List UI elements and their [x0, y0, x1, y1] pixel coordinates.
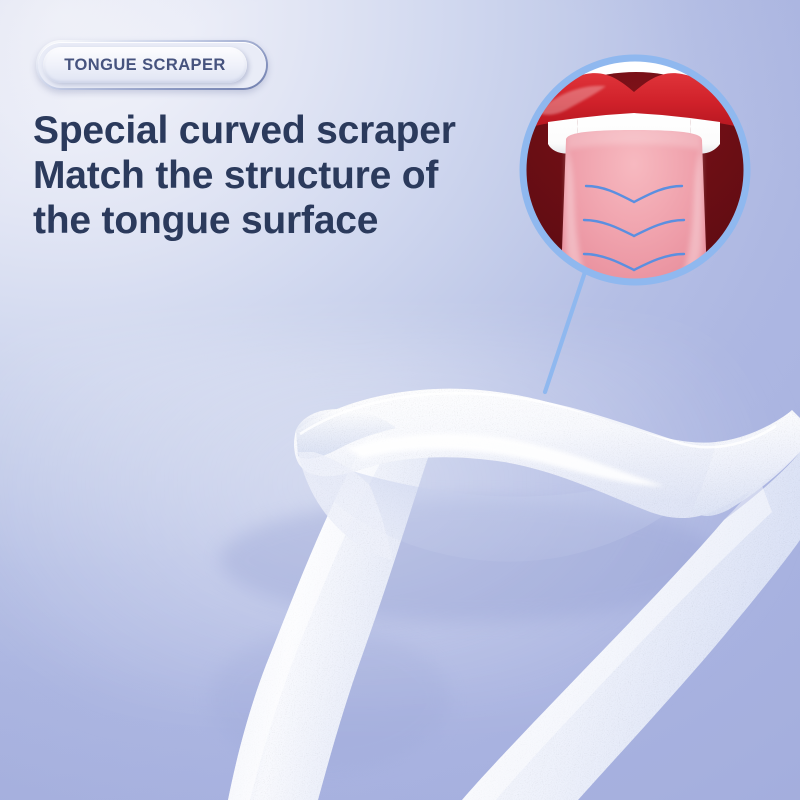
badge-inner-pill: TONGUE SCRAPER	[43, 47, 247, 83]
headline-line-1: Special curved scraper	[33, 108, 533, 153]
product-category-badge[interactable]: TONGUE SCRAPER	[36, 40, 268, 90]
callout-leader-line	[545, 272, 585, 392]
headline-line-3: the tongue surface	[33, 198, 533, 243]
product-banner: TONGUE SCRAPER Special curved scraper Ma…	[0, 0, 800, 800]
headline-line-2: Match the structure of	[33, 153, 533, 198]
headline: Special curved scraper Match the structu…	[33, 108, 533, 243]
badge-label: TONGUE SCRAPER	[64, 57, 225, 74]
